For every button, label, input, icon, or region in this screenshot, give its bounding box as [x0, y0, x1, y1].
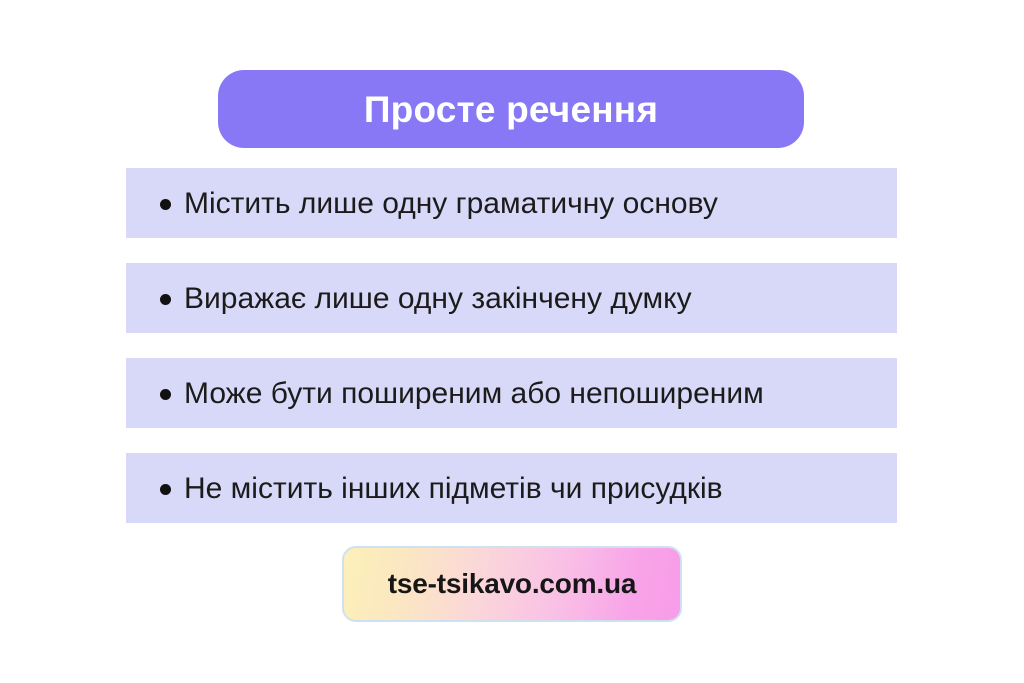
- site-watermark-badge: tse-tsikavo.com.ua: [342, 546, 682, 622]
- infographic-slide: Просте речення Містить лише одну грамати…: [0, 0, 1024, 683]
- bullet-icon: [160, 484, 171, 495]
- list-item-label: Може бути поширеним або непоширеним: [184, 377, 764, 410]
- page-title: Просте речення: [364, 91, 658, 128]
- site-url-label: tse-tsikavo.com.ua: [388, 568, 637, 600]
- list-item-label: Виражає лише одну закінчену думку: [184, 282, 692, 315]
- list-item: Може бути поширеним або непоширеним: [126, 358, 897, 428]
- bullet-icon: [160, 294, 171, 305]
- header-pill: Просте речення: [218, 70, 804, 148]
- list-item: Містить лише одну граматичну основу: [126, 168, 897, 238]
- list-item-label: Містить лише одну граматичну основу: [184, 187, 718, 220]
- bullet-icon: [160, 389, 171, 400]
- list-item: Не містить інших підметів чи присудків: [126, 453, 897, 523]
- bullet-icon: [160, 199, 171, 210]
- list-item: Виражає лише одну закінчену думку: [126, 263, 897, 333]
- list-item-label: Не містить інших підметів чи присудків: [184, 472, 723, 505]
- bullet-list: Містить лише одну граматичну основу Вира…: [126, 168, 897, 523]
